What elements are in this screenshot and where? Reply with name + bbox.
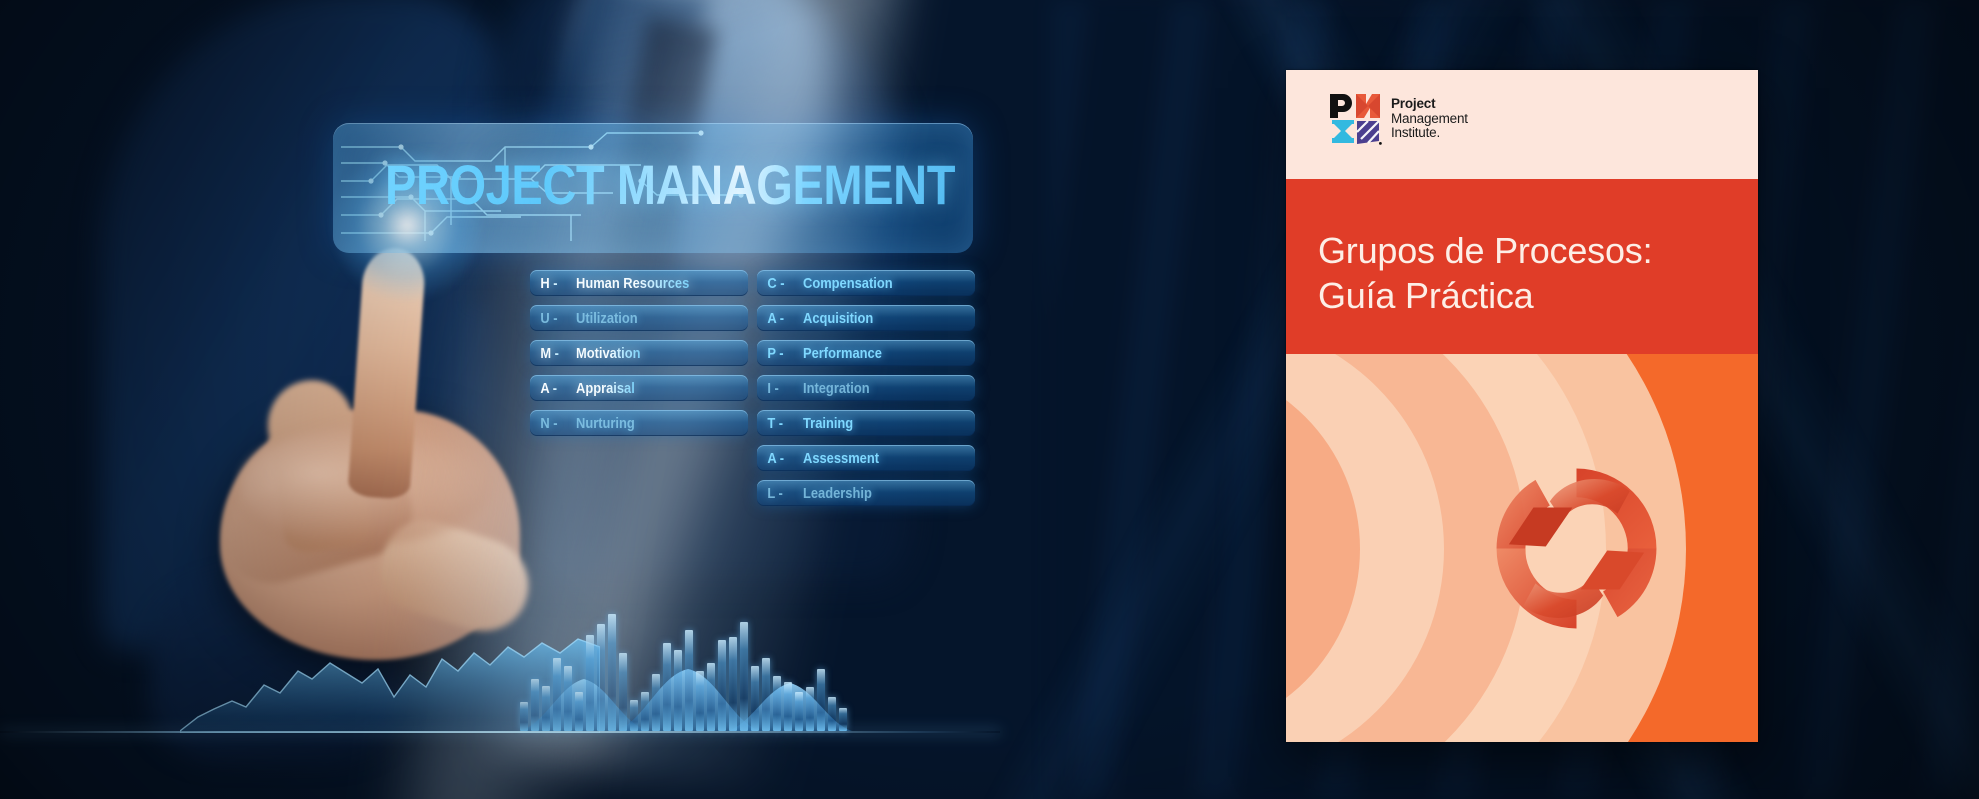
pmi-word-project: Project — [1391, 97, 1468, 112]
book-header: Project Management Institute. — [1286, 70, 1758, 179]
pmi-logomark-icon — [1328, 92, 1382, 146]
book-title-line-1: Grupos de Procesos: — [1318, 228, 1652, 273]
pmi-word-management: Management — [1391, 112, 1468, 127]
book-title: Grupos de Procesos: Guía Práctica — [1318, 228, 1652, 318]
book-title-band: Grupos de Procesos: Guía Práctica — [1286, 179, 1758, 354]
promotional-banner: PROJECT MANAGEMENT H -Human ResourcesU -… — [0, 0, 1979, 799]
process-cycle-icon — [1474, 446, 1679, 651]
pmi-word-institute: Institute. — [1391, 126, 1468, 141]
book-title-line-2: Guía Práctica — [1318, 273, 1652, 318]
pmi-logo: Project Management Institute. — [1328, 92, 1468, 146]
pmi-wordmark: Project Management Institute. — [1391, 97, 1468, 141]
page-title: PROJECT MANAGEMENT — [385, 151, 955, 219]
book-cover[interactable]: Project Management Institute. Grupos de … — [1286, 70, 1758, 742]
book-artwork — [1286, 354, 1758, 742]
